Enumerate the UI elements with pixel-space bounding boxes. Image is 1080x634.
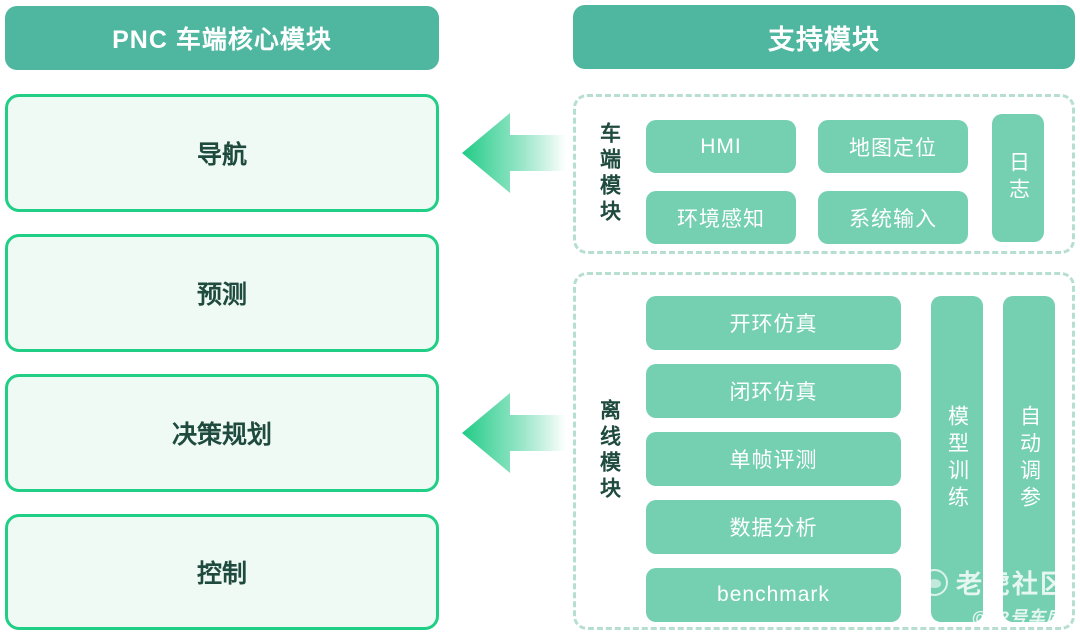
module-label: 开环仿真 [730, 308, 818, 338]
module-label: 自动调参 [1019, 405, 1040, 513]
module-environment-perception[interactable]: 环境感知 [646, 191, 796, 244]
module-model-training[interactable]: 模型训练 [931, 296, 983, 622]
core-module-label: 决策规划 [172, 415, 272, 451]
module-data-analysis[interactable]: 数据分析 [646, 500, 901, 554]
group-onboard-modules: 车端模块 HMI 地图定位 环境感知 系统输入 日志 [573, 94, 1075, 254]
module-log[interactable]: 日志 [992, 114, 1044, 242]
core-module-label: 预测 [197, 275, 247, 311]
module-label: 模型训练 [947, 405, 968, 513]
module-label: 闭环仿真 [730, 376, 818, 406]
module-single-frame-evaluation[interactable]: 单帧评测 [646, 432, 901, 486]
module-auto-tuning[interactable]: 自动调参 [1003, 296, 1055, 622]
module-label: 系统输入 [849, 203, 937, 233]
module-label: 单帧评测 [730, 444, 818, 474]
module-hmi[interactable]: HMI [646, 120, 796, 173]
module-map-localization[interactable]: 地图定位 [818, 120, 968, 173]
module-benchmark[interactable]: benchmark [646, 568, 901, 622]
core-module-label: 导航 [197, 135, 247, 171]
module-system-input[interactable]: 系统输入 [818, 191, 968, 244]
module-label: 日志 [1008, 151, 1029, 205]
core-module-control[interactable]: 控制 [5, 514, 439, 630]
core-module-decision-planning[interactable]: 决策规划 [5, 374, 439, 492]
diagram-canvas: PNC 车端核心模块 导航 预测 决策规划 控制 [0, 0, 1080, 634]
core-module-label: 控制 [197, 554, 247, 590]
core-module-prediction[interactable]: 预测 [5, 234, 439, 352]
module-label: benchmark [717, 583, 830, 607]
core-module-navigation[interactable]: 导航 [5, 94, 439, 212]
module-open-loop-simulation[interactable]: 开环仿真 [646, 296, 901, 350]
module-closed-loop-simulation[interactable]: 闭环仿真 [646, 364, 901, 418]
group-offline-modules: 离线模块 开环仿真 闭环仿真 单帧评测 数据分析 benchmark 模型训练 … [573, 272, 1075, 630]
module-label: HMI [700, 135, 742, 159]
right-column-header: 支持模块 [573, 5, 1075, 69]
arrow-left-icon-offline [458, 383, 568, 483]
group-onboard-label: 车端模块 [592, 97, 626, 251]
left-column-header: PNC 车端核心模块 [5, 6, 439, 70]
arrow-left-icon-onboard [458, 103, 568, 203]
module-label: 地图定位 [849, 132, 937, 162]
module-label: 环境感知 [677, 203, 765, 233]
group-offline-label: 离线模块 [592, 275, 626, 627]
module-label: 数据分析 [730, 512, 818, 542]
